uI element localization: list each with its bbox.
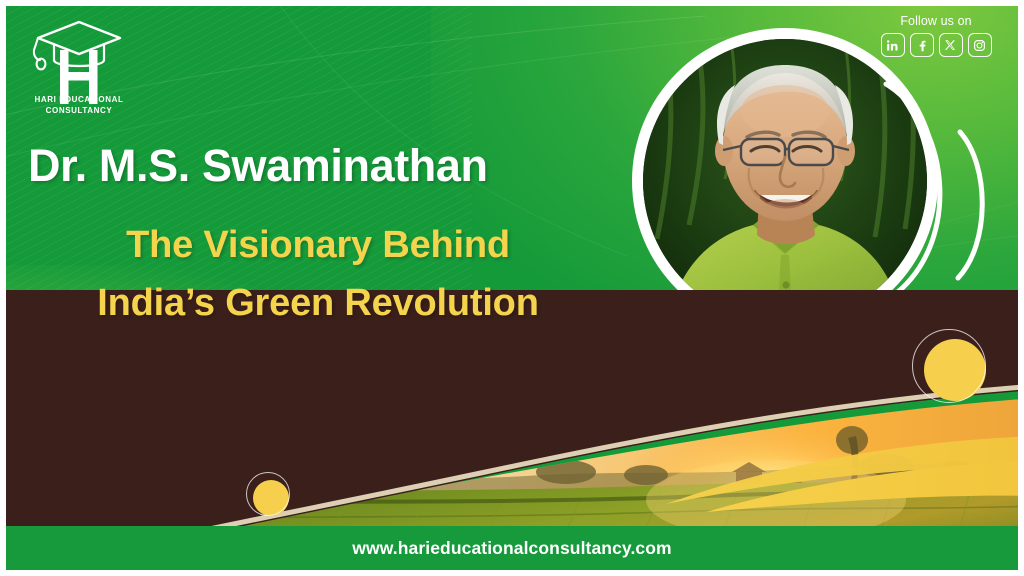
poster-canvas: HARI EDUCATIONAL CONSULTANCY Follow us o… — [0, 0, 1024, 576]
page-subtitle-line-1: The Visionary Behind — [28, 216, 608, 274]
social-icon-row — [876, 33, 996, 57]
facebook-icon[interactable] — [910, 33, 934, 57]
portrait-ring — [632, 28, 938, 334]
page-title: Dr. M.S. Swaminathan — [28, 139, 614, 193]
page-subtitle-line-2: India’s Green Revolution — [28, 274, 608, 332]
brand-name: HARI EDUCATIONAL CONSULTANCY — [20, 94, 138, 116]
accent-ring-right — [912, 329, 986, 403]
poster-frame: HARI EDUCATIONAL CONSULTANCY Follow us o… — [6, 6, 1018, 570]
brand-name-line-2: CONSULTANCY — [20, 105, 138, 116]
page-subtitle: The Visionary Behind India’s Green Revol… — [28, 216, 608, 332]
instagram-icon[interactable] — [968, 33, 992, 57]
portrait-photo — [643, 39, 927, 323]
follow-us-block: Follow us on — [876, 12, 996, 57]
brand-logo[interactable]: HARI EDUCATIONAL CONSULTANCY — [20, 16, 138, 124]
footer-url-bar[interactable]: www.harieducationalconsultancy.com — [6, 526, 1018, 570]
brand-name-line-1: HARI EDUCATIONAL — [20, 94, 138, 105]
x-twitter-icon[interactable] — [939, 33, 963, 57]
linkedin-icon[interactable] — [881, 33, 905, 57]
follow-us-label: Follow us on — [876, 12, 996, 31]
footer-url: www.harieducationalconsultancy.com — [352, 538, 671, 559]
accent-ring-left — [246, 472, 290, 516]
